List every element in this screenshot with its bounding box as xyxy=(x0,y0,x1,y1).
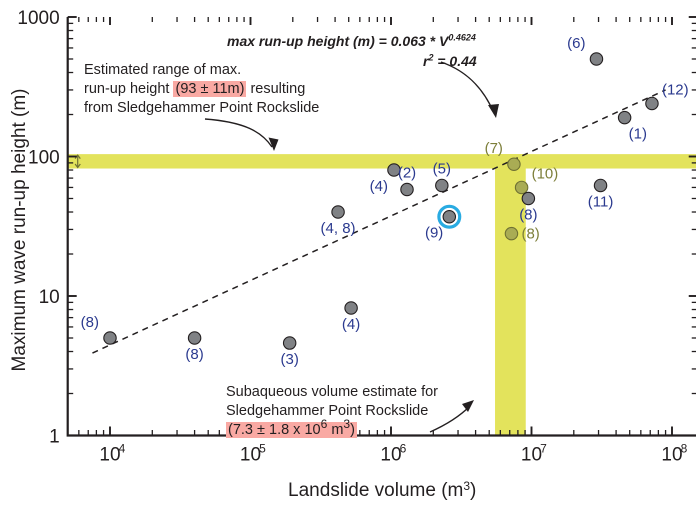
y-tick-label: 10 xyxy=(39,287,60,308)
svg-text:10: 10 xyxy=(380,445,401,466)
volume-value-highlight: (7.3 ± 1.8 x 106 m3) xyxy=(226,422,357,438)
svg-text:4: 4 xyxy=(119,442,126,456)
data-point-label: (9) xyxy=(425,225,443,242)
data-point: (8) xyxy=(185,332,203,363)
data-point-marker xyxy=(522,192,534,204)
data-point: (3) xyxy=(280,337,298,368)
svg-text:10: 10 xyxy=(521,445,542,466)
data-point-label: (8) xyxy=(81,314,99,331)
volume-post: ) xyxy=(350,422,355,438)
data-point-label: (12) xyxy=(662,81,689,98)
data-point-marker xyxy=(332,206,344,218)
data-point: (8) xyxy=(519,192,537,223)
data-point-label: (5) xyxy=(433,160,451,177)
data-point-marker xyxy=(618,111,630,123)
x-tick-label: 107 xyxy=(521,442,547,466)
data-point: (9) xyxy=(425,206,460,241)
y-axis-title: Maximum wave run-up height (m) xyxy=(9,89,30,372)
equation-exponent: 0.4624 xyxy=(448,32,476,42)
data-point: (2) xyxy=(398,165,416,196)
svg-text:8: 8 xyxy=(681,442,688,456)
power-law-trendline xyxy=(92,90,665,353)
data-point: (6) xyxy=(567,35,603,65)
data-point-label: (11) xyxy=(588,193,614,210)
annotation-top-line3: from Sledgehammer Point Rockslide xyxy=(84,99,319,118)
svg-text:10: 10 xyxy=(661,445,682,466)
data-point: (8) xyxy=(81,314,117,344)
data-point: (4, 8) xyxy=(321,206,356,237)
annotation-runup-range: Estimated range of max. run-up height (9… xyxy=(84,61,319,118)
y-tick-label: 1 xyxy=(49,427,60,448)
trendline-equation: max run-up height (m) = 0.063 * V0.4624 xyxy=(227,33,476,49)
data-point: (5) xyxy=(433,160,451,191)
runup-value-highlight: (93 ± 11m) xyxy=(173,81,246,97)
annotation-top-line1: Estimated range of max. xyxy=(84,61,319,80)
volume-pre: (7.3 ± 1.8 x 10 xyxy=(228,422,321,438)
volume-mid: m xyxy=(327,422,343,438)
trendline xyxy=(92,90,665,353)
annotation-bottom-line2: Sledgehammer Point Rockslide xyxy=(226,402,438,421)
r2-value: = 0.44 xyxy=(433,53,476,69)
x-tick-label: 105 xyxy=(240,442,266,466)
data-point-marker xyxy=(646,97,658,109)
data-point-marker xyxy=(594,179,606,191)
annotation-top-line2: run-up height (93 ± 11m) resulting xyxy=(84,80,319,99)
data-point-marker xyxy=(283,337,295,349)
data-point-marker xyxy=(590,53,602,65)
data-point-marker xyxy=(515,181,527,193)
data-point-label: (8) xyxy=(521,226,539,243)
data-point-marker xyxy=(443,211,455,223)
data-point-label: (8) xyxy=(519,206,537,223)
annotation-top-line2-pre: run-up height xyxy=(84,81,173,97)
x-tick-label: 104 xyxy=(99,442,125,466)
svg-text:10: 10 xyxy=(240,445,261,466)
data-point: (4) xyxy=(342,302,360,333)
svg-text:10: 10 xyxy=(99,445,120,466)
data-point-label: (6) xyxy=(567,35,585,52)
svg-text:7: 7 xyxy=(540,442,547,456)
data-point-label: (7) xyxy=(485,140,503,157)
x-tick-label: 106 xyxy=(380,442,406,466)
annotation-bottom-line1: Subaqueous volume estimate for xyxy=(226,383,438,402)
y-tick-label: 1000 xyxy=(17,8,59,29)
leader-runup-band xyxy=(205,119,279,151)
runup-range-band xyxy=(68,154,696,168)
data-point-label: (3) xyxy=(280,351,298,368)
svg-text:6: 6 xyxy=(400,442,407,456)
data-point-marker xyxy=(188,332,200,344)
data-point-marker xyxy=(508,158,520,170)
annotation-volume-estimate: Subaqueous volume estimate for Sledgeham… xyxy=(226,383,438,440)
data-point: (11) xyxy=(588,179,614,210)
r-squared-label: r2 = 0.44 xyxy=(423,53,477,69)
x-axis-title: Landslide volume (m3) xyxy=(288,479,476,501)
data-point-label: (2) xyxy=(398,165,416,182)
annotation-bottom-line3: (7.3 ± 1.8 x 106 m3) xyxy=(226,421,438,440)
data-point: (8) xyxy=(505,226,540,243)
data-point-label: (4) xyxy=(342,316,360,333)
equation-text: max run-up height (m) = 0.063 * V xyxy=(227,33,448,49)
volume-range-band xyxy=(495,154,526,435)
x-tick-label: 108 xyxy=(661,442,687,466)
data-point-label: (8) xyxy=(185,346,203,363)
data-point-marker xyxy=(345,302,357,314)
data-point-label: (1) xyxy=(629,126,647,143)
svg-text:5: 5 xyxy=(259,442,266,456)
data-point-label: (4, 8) xyxy=(321,220,356,237)
data-point: (1) xyxy=(618,111,647,142)
data-point-label: (10) xyxy=(532,165,559,182)
leader-trendline xyxy=(441,62,499,118)
data-point-label: (4) xyxy=(370,178,388,195)
data-point-marker xyxy=(505,227,517,239)
data-point-marker xyxy=(104,332,116,344)
data-point-marker xyxy=(401,183,413,195)
data-point-marker xyxy=(436,179,448,191)
scatter-plot-figure: (8)(8)(3)(4)(4, 8)(4)(2)(5)(9)(7)(10)(8)… xyxy=(0,0,696,508)
y-tick-label: 100 xyxy=(28,148,60,169)
annotation-top-line2-post: resulting xyxy=(246,81,305,97)
